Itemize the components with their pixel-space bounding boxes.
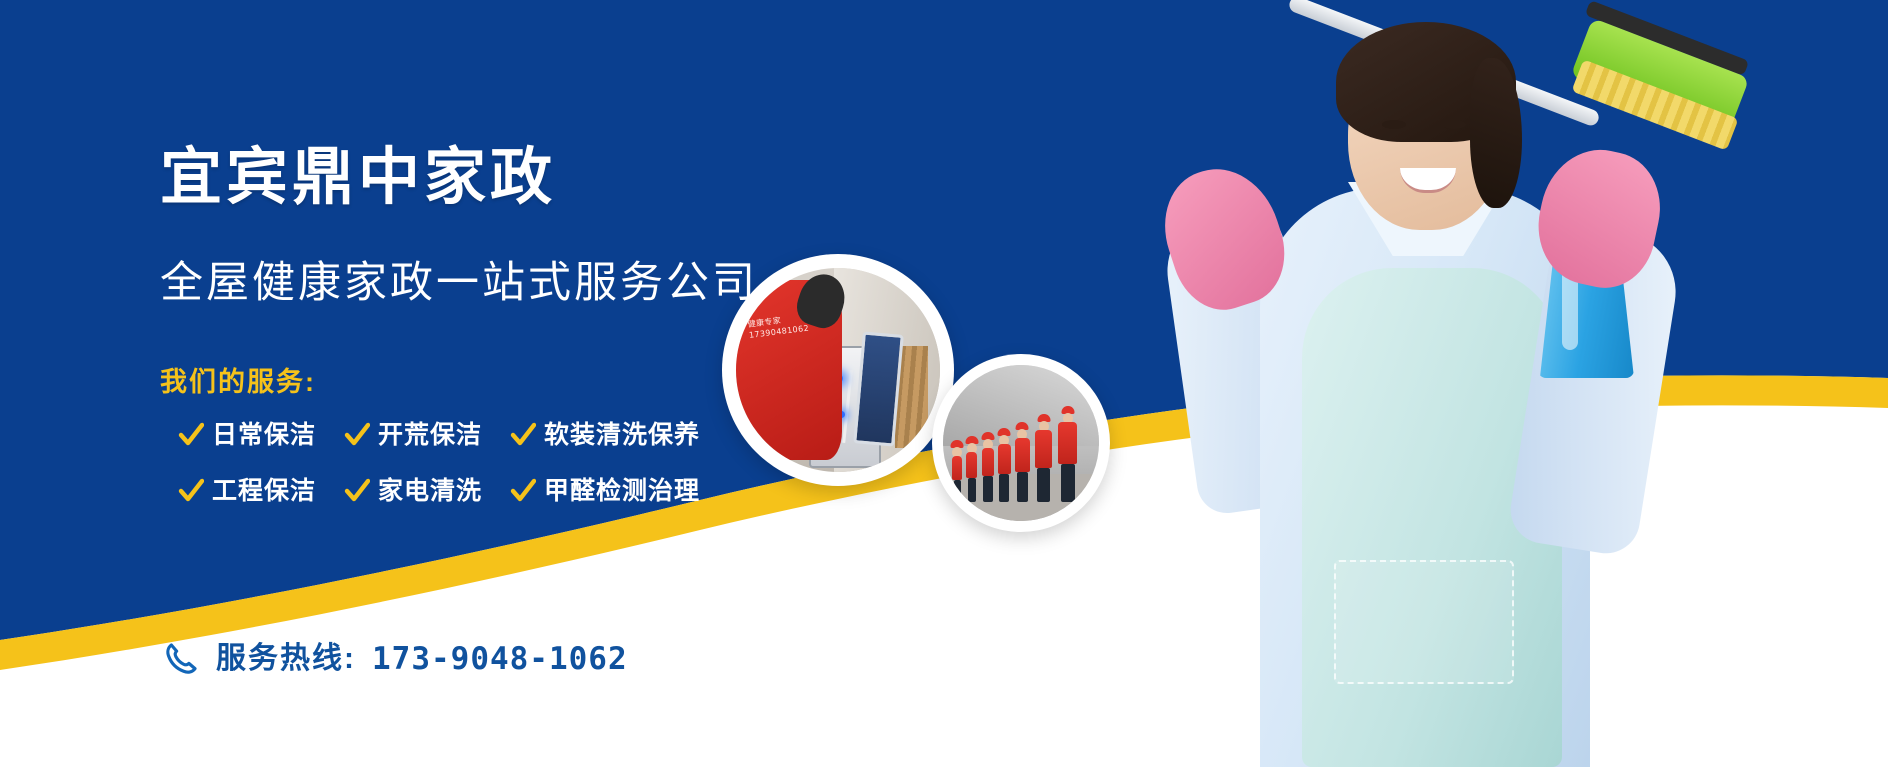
- hotline[interactable]: 服务热线: 173-9048-1062: [160, 638, 628, 680]
- hotline-label: 服务热线:: [216, 644, 356, 674]
- check-icon: [510, 422, 536, 448]
- check-icon: [510, 478, 536, 504]
- service-label: 工程保洁: [212, 479, 316, 504]
- hotline-number: 173-9048-1062: [372, 644, 628, 675]
- service-item[interactable]: 日常保洁: [178, 422, 316, 448]
- model-right-eye: [1442, 120, 1466, 129]
- services-row-2: 工程保洁 家电清洗 甲醛检测治理: [178, 468, 728, 514]
- photo-equipment-worker-image: 健康专家 17390481062: [736, 268, 940, 472]
- service-label: 甲醛检测治理: [544, 479, 700, 504]
- service-label: 开荒保洁: [378, 423, 482, 448]
- apron-pocket: [1334, 560, 1514, 684]
- promo-banner: 宜宾鼎中家政 全屋健康家政一站式服务公司 我们的服务: 日常保洁 开荒保洁: [0, 0, 1888, 767]
- services-list: 日常保洁 开荒保洁 软装清洗保养: [178, 412, 728, 524]
- service-label: 软装清洗保养: [544, 423, 700, 448]
- check-icon: [178, 422, 204, 448]
- photo-team-lineup: [932, 354, 1110, 532]
- service-label: 家电清洗: [378, 479, 482, 504]
- services-label: 我们的服务:: [160, 369, 316, 396]
- check-icon: [344, 478, 370, 504]
- service-item[interactable]: 甲醛检测治理: [510, 478, 700, 504]
- brand-title: 宜宾鼎中家政: [160, 146, 556, 208]
- check-icon: [178, 478, 204, 504]
- cleaning-staff-model: [1120, 0, 1888, 767]
- service-item[interactable]: 软装清洗保养: [510, 422, 700, 448]
- check-icon: [344, 422, 370, 448]
- services-row-1: 日常保洁 开荒保洁 软装清洗保养: [178, 412, 728, 458]
- photo-team-lineup-image: [943, 365, 1099, 521]
- service-item[interactable]: 工程保洁: [178, 478, 316, 504]
- service-label: 日常保洁: [212, 423, 316, 448]
- service-item[interactable]: 开荒保洁: [344, 422, 482, 448]
- phone-handset-icon: [160, 638, 202, 680]
- model-left-eye: [1382, 120, 1406, 129]
- brand-subtitle: 全屋健康家政一站式服务公司: [160, 262, 758, 305]
- service-item[interactable]: 家电清洗: [344, 478, 482, 504]
